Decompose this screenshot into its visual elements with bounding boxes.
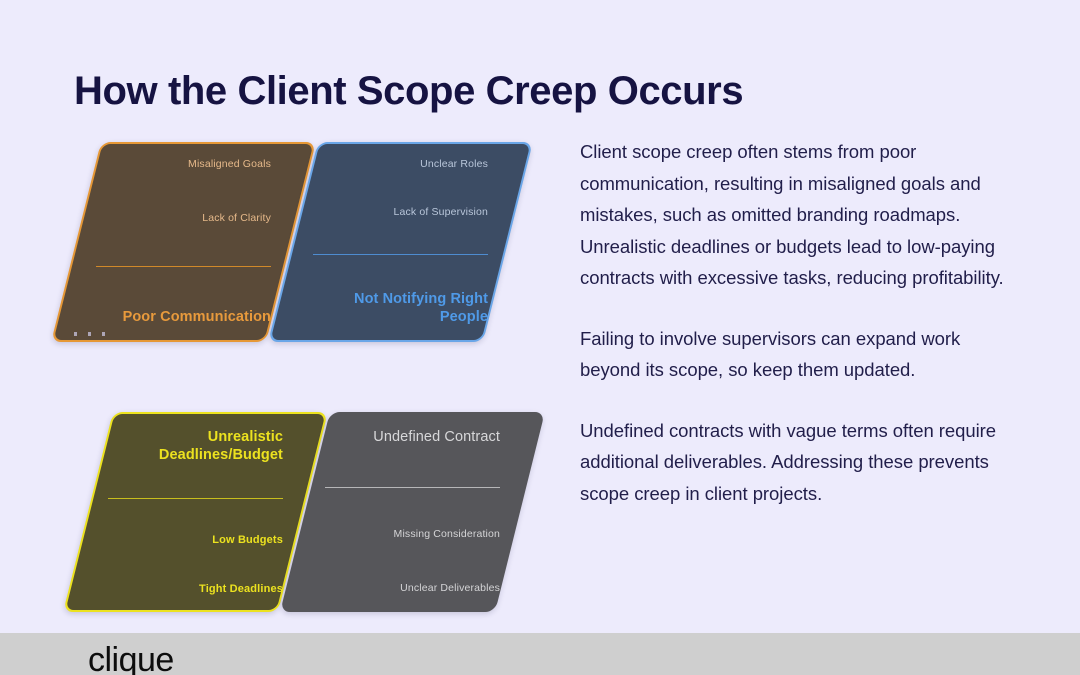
slide-canvas: How the Client Scope Creep Occurs Misali… <box>0 0 1080 675</box>
card-item: Lack of Clarity <box>96 212 271 226</box>
card-spacer <box>313 172 488 206</box>
brand-wordmark: clique <box>88 643 174 675</box>
card-spacer <box>325 488 500 529</box>
card-item: Tight Deadlines <box>108 582 283 596</box>
body-copy: Client scope creep often stems from poor… <box>580 136 1005 509</box>
card-not-notifying-right-people[interactable]: Unclear Roles Lack of Supervision Not No… <box>268 142 533 342</box>
body-paragraph: Client scope creep often stems from poor… <box>580 136 1005 294</box>
footer-bar: clique <box>0 633 1080 675</box>
card-content: Unrealistic Deadlines/Budget Low Budgets… <box>90 414 301 610</box>
card-spacer <box>108 499 283 533</box>
card-item: Unclear Deliverables <box>325 582 500 596</box>
card-heading: Unrealistic Deadlines/Budget <box>108 428 283 464</box>
card-divider <box>313 254 488 255</box>
card-spacer <box>313 220 488 254</box>
card-heading: Undefined Contract <box>325 428 500 446</box>
dot-icon <box>102 332 105 336</box>
card-undefined-contract[interactable]: Undefined Contract Missing Consideration… <box>280 412 545 612</box>
card-content: Misaligned Goals Lack of Clarity Poor Co… <box>78 144 289 340</box>
card-item: Unclear Roles <box>313 158 488 172</box>
ellipsis-dots-indicator <box>74 332 105 336</box>
card-divider <box>325 487 500 488</box>
page-title: How the Client Scope Creep Occurs <box>74 69 743 114</box>
card-item: Low Budgets <box>108 533 283 547</box>
card-spacer <box>96 267 271 308</box>
card-item: Misaligned Goals <box>96 158 271 172</box>
card-heading: Poor Communication <box>96 308 271 326</box>
card-divider <box>108 498 283 499</box>
card-spacer <box>108 548 283 582</box>
dot-icon <box>74 332 77 336</box>
card-item: Missing Consideration <box>325 528 500 542</box>
card-content: Unclear Roles Lack of Supervision Not No… <box>295 144 506 340</box>
card-spacer <box>313 255 488 289</box>
card-spacer <box>96 172 271 213</box>
card-spacer <box>108 464 283 498</box>
card-spacer <box>96 226 271 267</box>
body-paragraph: Undefined contracts with vague terms oft… <box>580 415 1005 510</box>
dot-icon <box>88 332 91 336</box>
card-content: Undefined Contract Missing Consideration… <box>307 414 518 610</box>
card-item: Lack of Supervision <box>313 206 488 220</box>
cards-area: Misaligned Goals Lack of Clarity Poor Co… <box>0 130 570 620</box>
body-paragraph: Failing to involve supervisors can expan… <box>580 323 1005 386</box>
card-divider <box>96 266 271 267</box>
card-heading: Not Notifying Right People <box>313 290 488 326</box>
card-spacer <box>325 542 500 583</box>
card-spacer <box>325 446 500 487</box>
